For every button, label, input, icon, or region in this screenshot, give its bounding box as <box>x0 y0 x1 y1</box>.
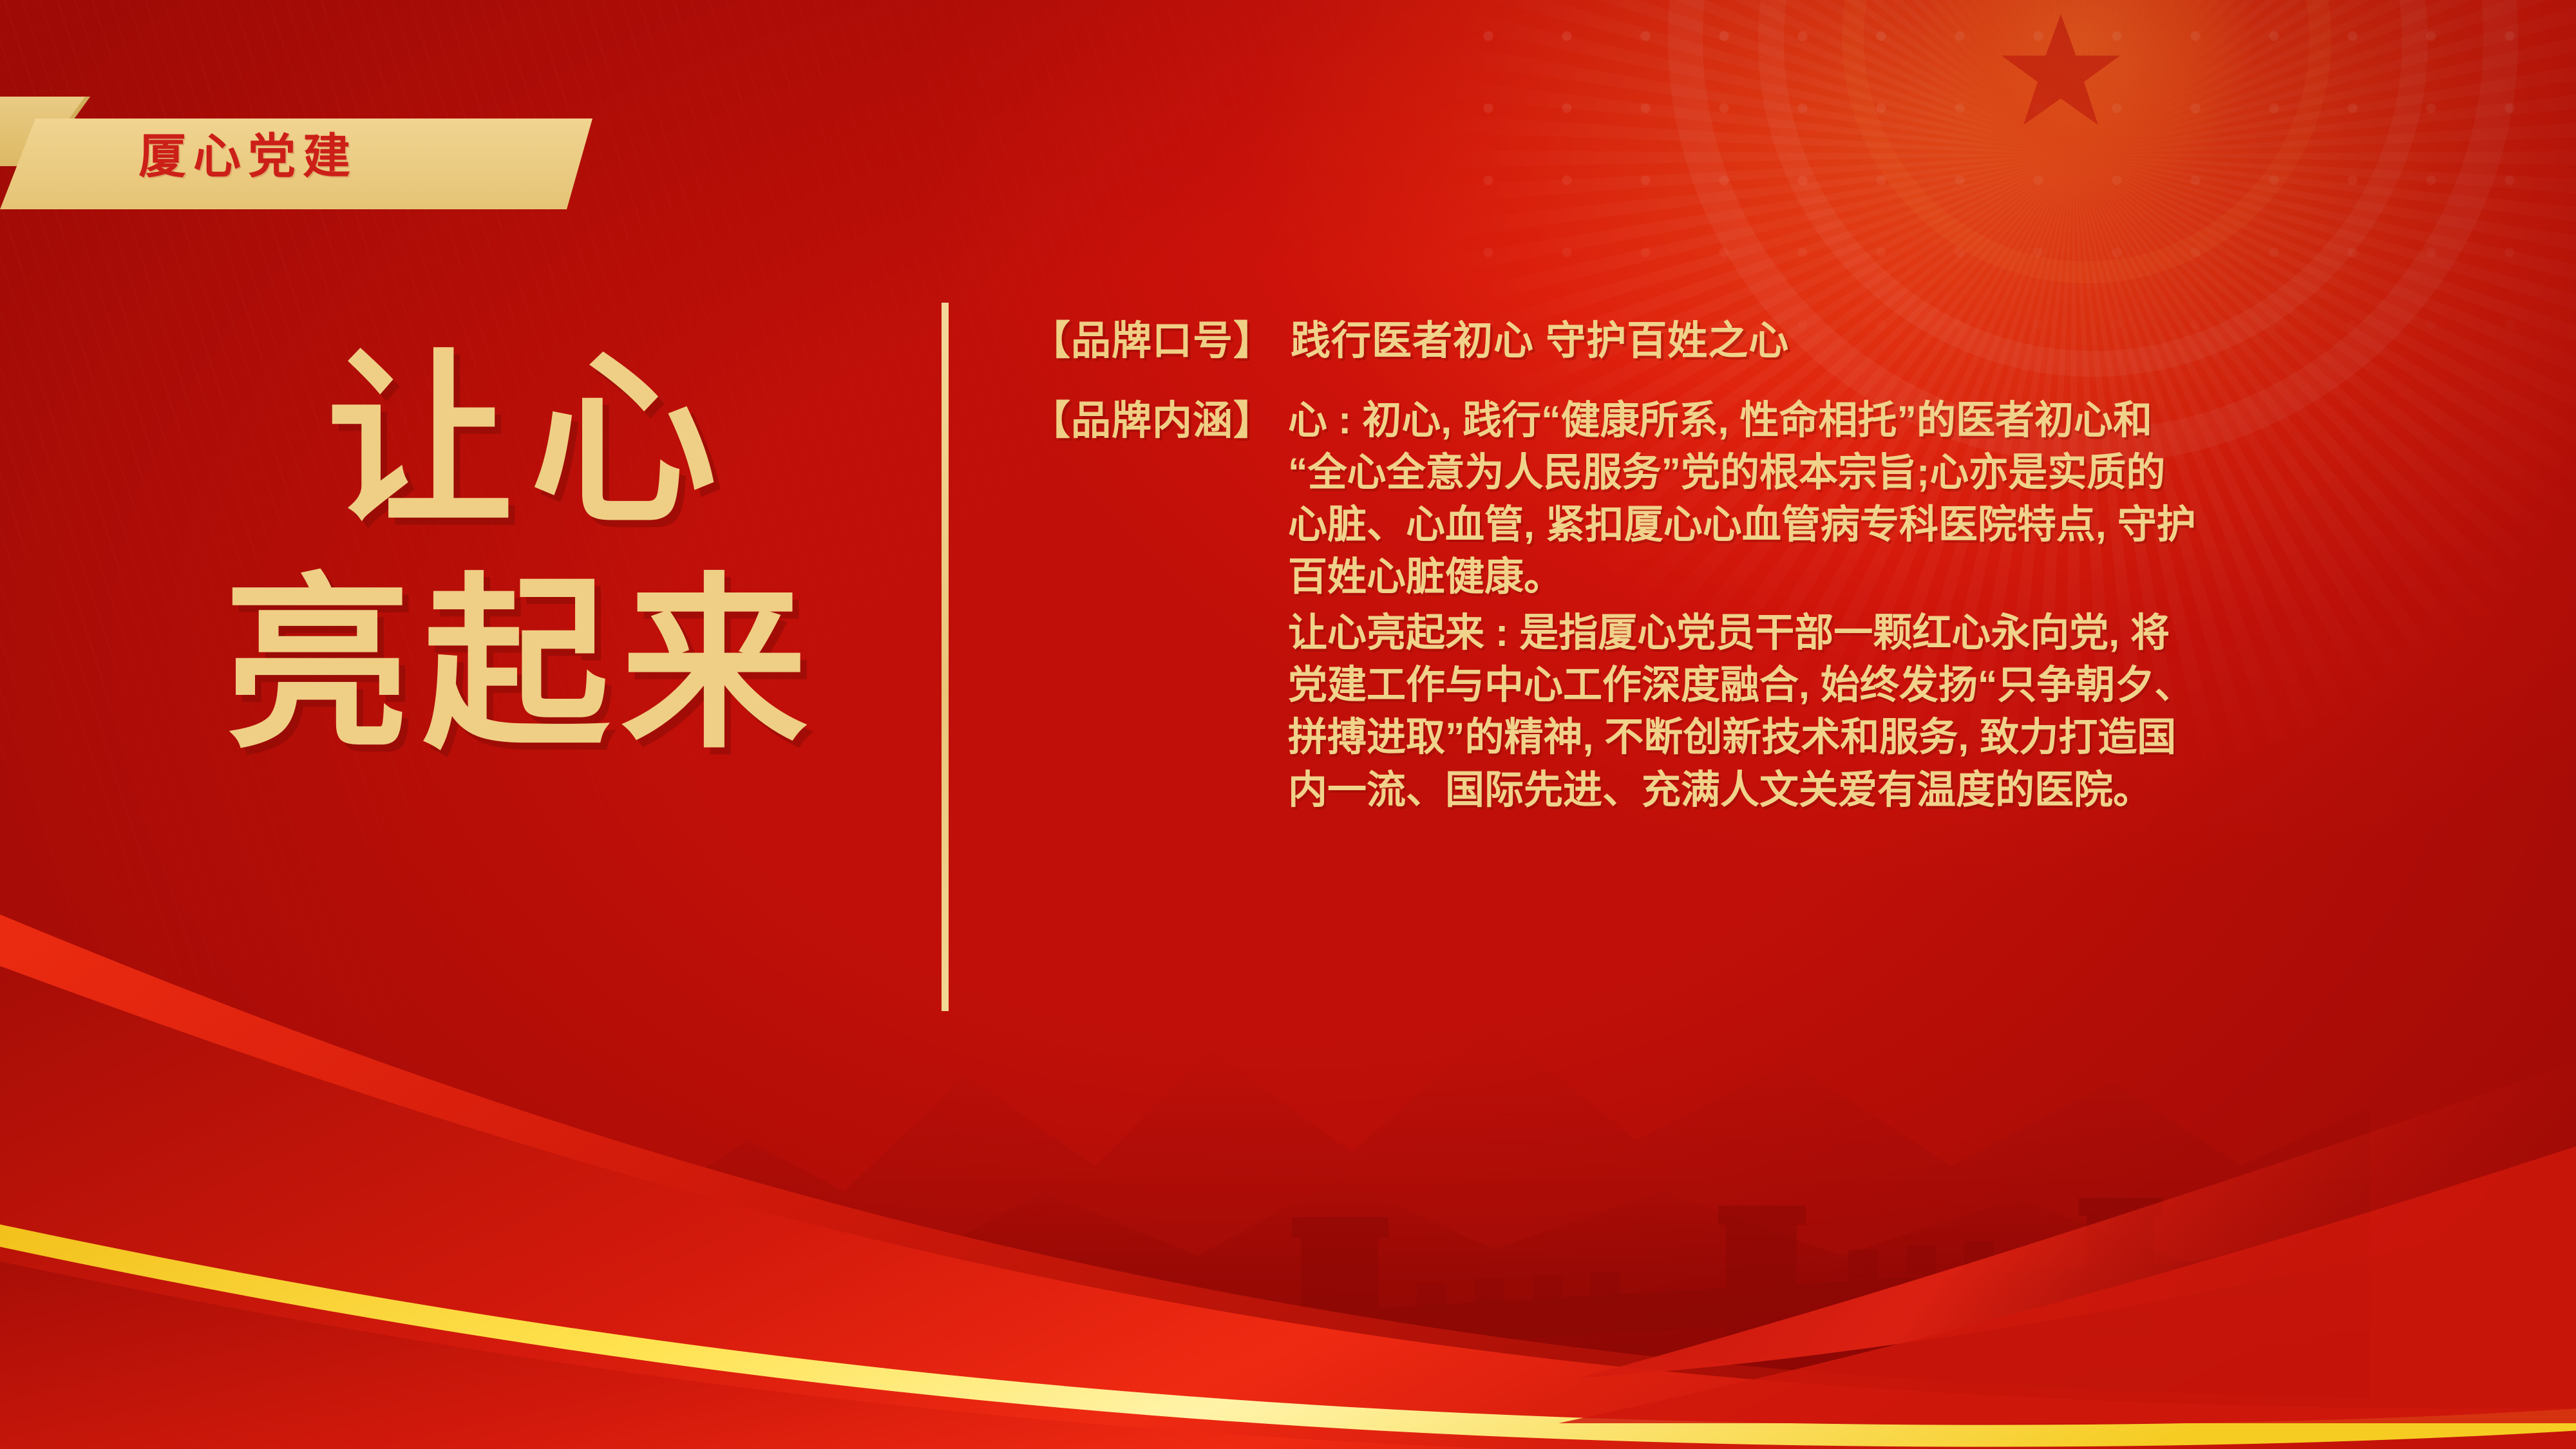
meaning-p1-line-4: 百姓心脏健康。 <box>1288 554 1563 598</box>
main-headline: 让心 亮起来 <box>138 348 905 759</box>
meaning-p2-line-3: 拼搏进取”的精神, 不断创新技术和服务, 致力打造国 <box>1288 715 2176 759</box>
brand-copy-column: 【品牌口号】 践行医者初心 守护百姓之心 【品牌内涵】 心 : 初心, 践行“健… <box>1030 314 2524 816</box>
brand-slogan-tag: 【品牌口号】 <box>1030 314 1274 368</box>
headline-line-2: 亮起来 <box>138 572 905 759</box>
brand-slogan-row: 【品牌口号】 践行医者初心 守护百姓之心 <box>1030 314 2524 368</box>
brand-slogan-text: 践行医者初心 守护百姓之心 <box>1291 314 1789 368</box>
brand-meaning-tag: 【品牌内涵】 <box>1030 394 1274 448</box>
poster-canvas: 厦心党建 让心 亮起来 【品牌口号】 践行医者初心 守护百姓之心 【品牌内涵】 … <box>0 0 2576 1449</box>
bottom-ribbon-waves <box>0 869 2576 1449</box>
meaning-p1-line-2: “全心全意为人民服务”党的根本宗旨;心亦是实质的 <box>1288 450 2165 494</box>
meaning-p1-line-3: 心脏、心血管, 紧扣厦心心血管病专科医院特点, 守护 <box>1288 502 2196 546</box>
brand-meaning-paragraph-2: 让心亮起来 : 是指厦心党员干部一颗红心永向党, 将 党建工作与中心工作深度融合… <box>1288 607 2196 816</box>
meaning-p2-line-1: 让心亮起来 : 是指厦心党员干部一颗红心永向党, 将 <box>1288 611 2170 654</box>
meaning-p2-line-2: 党建工作与中心工作深度融合, 始终发扬“只争朝夕、 <box>1288 663 2193 706</box>
vertical-gold-divider <box>942 303 949 1011</box>
meaning-p1-line-1: 心 : 初心, 践行“健康所系, 性命相托”的医者初心和 <box>1288 398 2152 442</box>
headline-line-1: 让心 <box>155 348 905 535</box>
brand-ribbon-label: 厦心党建 <box>138 118 357 187</box>
brand-meaning-row: 【品牌内涵】 心 : 初心, 践行“健康所系, 性命相托”的医者初心和 “全心全… <box>1030 394 2524 816</box>
brand-meaning-body: 心 : 初心, 践行“健康所系, 性命相托”的医者初心和 “全心全意为人民服务”… <box>1288 394 2196 816</box>
brand-meaning-paragraph-1: 心 : 初心, 践行“健康所系, 性命相托”的医者初心和 “全心全意为人民服务”… <box>1288 394 2196 603</box>
meaning-p2-line-4: 内一流、国际先进、充满人文关爱有温度的医院。 <box>1288 768 2152 811</box>
